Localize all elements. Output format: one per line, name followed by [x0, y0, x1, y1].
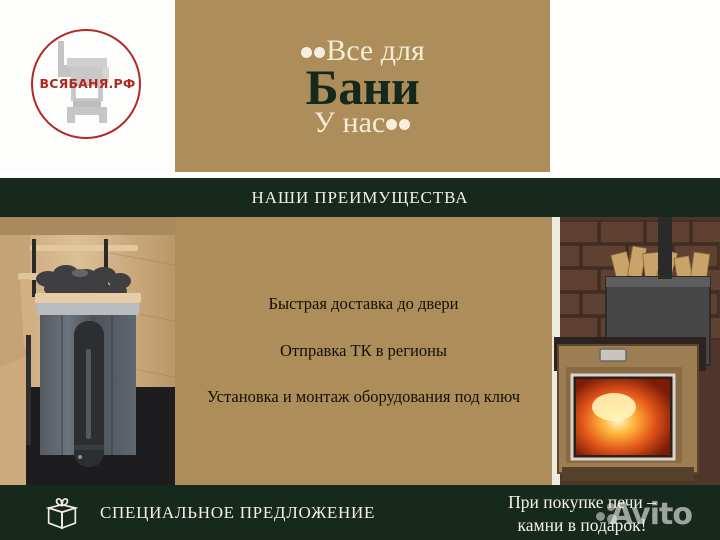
feature-item: Быстрая доставка до двери — [184, 294, 544, 315]
special-offer-block: СПЕЦИАЛЬНОЕ ПРЕДЛОЖЕНИЕ — [42, 493, 375, 533]
decorative-dot-icon — [314, 47, 325, 58]
body-section: Быстрая доставка до двери Отправка ТК в … — [0, 217, 720, 485]
headline-line-bottom: У нас — [175, 108, 550, 138]
decorative-dot-icon — [301, 47, 312, 58]
advantages-banner-title: НАШИ ПРЕИМУЩЕСТВА — [252, 188, 469, 208]
header-right-whitespace — [550, 0, 720, 178]
headline-bottom-text: У нас — [314, 106, 385, 139]
headline-main: Бани — [175, 62, 550, 112]
feature-item: Отправка ТК в регионы — [184, 341, 544, 362]
header-section: ВСЯБАНЯ.РФ Все для Бани У нас — [0, 0, 720, 178]
sauna-heater-photo — [0, 217, 175, 485]
promo-text: При покупке печи – камни в подарок! — [452, 491, 712, 537]
footer-section: СПЕЦИАЛЬНОЕ ПРЕДЛОЖЕНИЕ При покупке печи… — [0, 485, 720, 540]
special-offer-label: СПЕЦИАЛЬНОЕ ПРЕДЛОЖЕНИЕ — [100, 503, 375, 523]
logo-text: ВСЯБАНЯ.РФ — [32, 76, 144, 91]
advantages-banner: НАШИ ПРЕИМУЩЕСТВА — [0, 178, 720, 217]
features-list: Быстрая доставка до двери Отправка ТК в … — [175, 217, 552, 485]
feature-item: Установка и монтаж оборудования под ключ — [184, 387, 544, 408]
gift-box-icon — [42, 493, 82, 533]
brand-logo: ВСЯБАНЯ.РФ — [0, 0, 175, 172]
advertisement-banner: ВСЯБАНЯ.РФ Все для Бани У нас НАШИ ПРЕИМ… — [0, 0, 720, 540]
wood-stove-photo — [552, 217, 720, 485]
promo-line-1: При покупке печи – — [452, 491, 712, 514]
decorative-dot-icon — [399, 119, 410, 130]
promo-line-2: камни в подарок! — [452, 514, 712, 537]
decorative-dot-icon — [386, 119, 397, 130]
headline-block: Все для Бани У нас — [175, 0, 550, 172]
